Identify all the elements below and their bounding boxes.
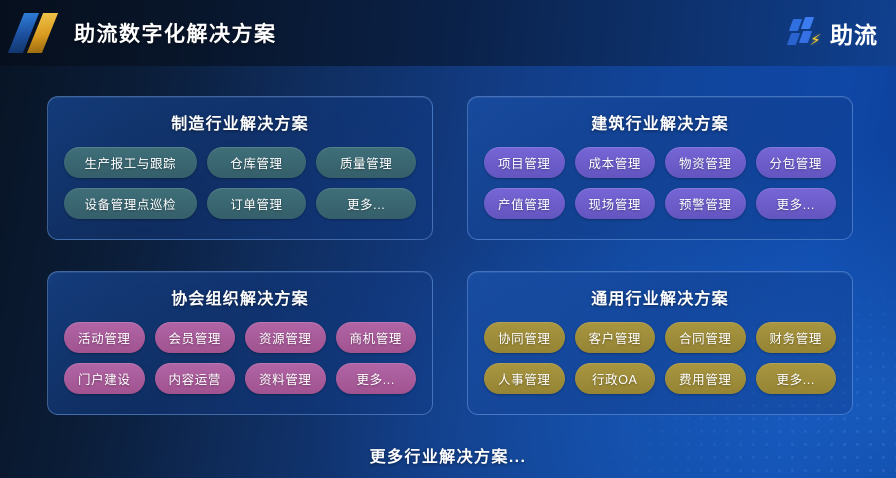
solution-pill[interactable]: 仓库管理: [207, 147, 307, 178]
lightning-bolt-icon: ⚡: [809, 33, 822, 48]
card-pill-grid: 项目管理成本管理物资管理分包管理产值管理现场管理预警管理更多...: [484, 147, 836, 219]
solution-pill[interactable]: 资源管理: [245, 322, 326, 353]
solution-pill[interactable]: 会员管理: [155, 322, 236, 353]
solution-pill[interactable]: 项目管理: [484, 147, 565, 178]
brand-name: 助流: [830, 16, 878, 50]
solution-pill[interactable]: 财务管理: [756, 322, 837, 353]
solution-pill[interactable]: 费用管理: [665, 363, 746, 394]
solution-pill[interactable]: 更多...: [336, 363, 417, 394]
solution-pill[interactable]: 预警管理: [665, 188, 746, 219]
solution-pill[interactable]: 更多...: [316, 188, 416, 219]
solution-pill[interactable]: 订单管理: [207, 188, 307, 219]
solution-pill[interactable]: 生产报工与跟踪: [64, 147, 197, 178]
card-title: 制造行业解决方案: [64, 110, 416, 134]
parallelogram-logo-icon: [14, 13, 58, 53]
solution-pill[interactable]: 人事管理: [484, 363, 565, 394]
brand-lockup[interactable]: ⚡ 助流: [789, 16, 878, 50]
card-title: 协会组织解决方案: [64, 285, 416, 309]
solution-pill[interactable]: 更多...: [756, 363, 837, 394]
solution-pill[interactable]: 产值管理: [484, 188, 565, 219]
card-pill-grid: 活动管理会员管理资源管理商机管理门户建设内容运营资料管理更多...: [64, 322, 416, 394]
solution-pill[interactable]: 成本管理: [575, 147, 656, 178]
solution-card: 通用行业解决方案协同管理客户管理合同管理财务管理人事管理行政OA费用管理更多..…: [467, 271, 853, 415]
solution-pill[interactable]: 现场管理: [575, 188, 656, 219]
solution-cards-grid: 制造行业解决方案生产报工与跟踪仓库管理质量管理设备管理点巡检订单管理更多...建…: [47, 96, 853, 415]
solution-pill[interactable]: 分包管理: [756, 147, 837, 178]
solution-pill[interactable]: 协同管理: [484, 322, 565, 353]
card-title: 通用行业解决方案: [484, 285, 836, 309]
card-title: 建筑行业解决方案: [484, 110, 836, 134]
page-title: 助流数字化解决方案: [74, 18, 277, 48]
card-pill-grid: 协同管理客户管理合同管理财务管理人事管理行政OA费用管理更多...: [484, 322, 836, 394]
solution-pill[interactable]: 客户管理: [575, 322, 656, 353]
solution-card: 建筑行业解决方案项目管理成本管理物资管理分包管理产值管理现场管理预警管理更多..…: [467, 96, 853, 240]
solution-pill[interactable]: 资料管理: [245, 363, 326, 394]
solution-pill[interactable]: 行政OA: [575, 363, 656, 394]
solution-pill[interactable]: 设备管理点巡检: [64, 188, 197, 219]
solution-card: 协会组织解决方案活动管理会员管理资源管理商机管理门户建设内容运营资料管理更多..…: [47, 271, 433, 415]
solution-pill[interactable]: 物资管理: [665, 147, 746, 178]
header-bar: 助流数字化解决方案 ⚡ 助流: [0, 0, 896, 66]
solution-pill[interactable]: 合同管理: [665, 322, 746, 353]
solution-pill[interactable]: 内容运营: [155, 363, 236, 394]
slide-root: 助流数字化解决方案 ⚡ 助流 制造行业解决方案生产报工与跟踪仓库管理质量管理设备…: [0, 0, 896, 478]
solution-pill[interactable]: 门户建设: [64, 363, 145, 394]
zhuliu-bolt-icon: ⚡: [789, 17, 823, 49]
card-pill-grid: 生产报工与跟踪仓库管理质量管理设备管理点巡检订单管理更多...: [64, 147, 416, 219]
solution-card: 制造行业解决方案生产报工与跟踪仓库管理质量管理设备管理点巡检订单管理更多...: [47, 96, 433, 240]
solution-pill[interactable]: 商机管理: [336, 322, 417, 353]
solution-pill[interactable]: 更多...: [756, 188, 837, 219]
solution-pill[interactable]: 质量管理: [316, 147, 416, 178]
footer-more-solutions[interactable]: 更多行业解决方案...: [0, 443, 896, 467]
solution-pill[interactable]: 活动管理: [64, 322, 145, 353]
